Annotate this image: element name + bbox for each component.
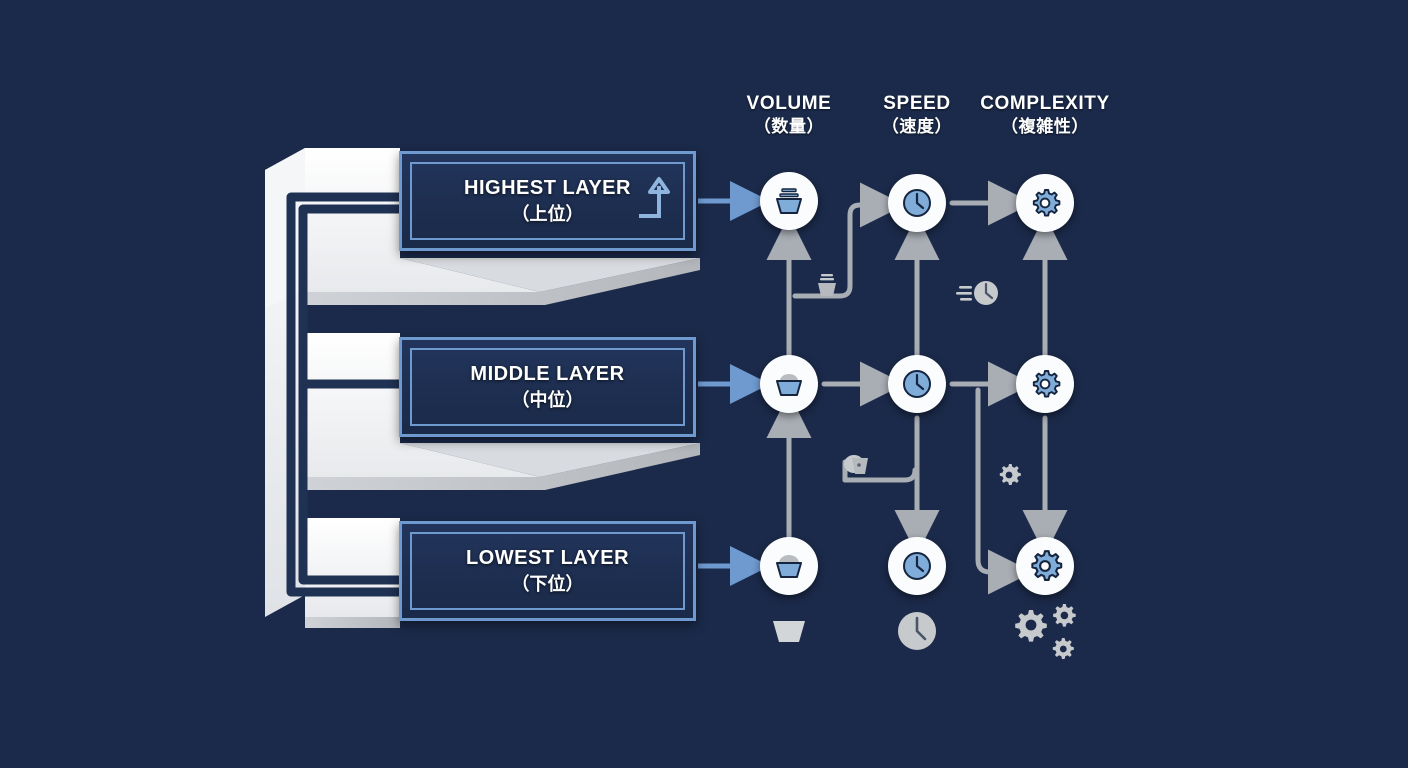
node-middle-volume[interactable]	[760, 355, 818, 413]
clock-icon	[900, 549, 934, 583]
layer-card-frame	[410, 348, 685, 426]
column-header-complexity-jp: （複雑性）	[945, 115, 1145, 139]
layer-card-frame	[410, 532, 685, 610]
gear-icon	[1028, 367, 1062, 401]
node-highest-speed[interactable]	[888, 174, 946, 232]
node-lowest-complexity[interactable]	[1016, 537, 1074, 595]
layer-card-highest[interactable]: HIGHEST LAYER （上位）	[399, 151, 696, 251]
diagram-canvas: VOLUME （数量） SPEED （速度） COMPLEXITY （複雑性） …	[0, 0, 1408, 768]
layer-card-lowest[interactable]: LOWEST LAYER （下位）	[399, 521, 696, 621]
pitcher-icon	[838, 452, 874, 486]
node-middle-speed[interactable]	[888, 355, 946, 413]
arrow-up-icon	[635, 176, 675, 222]
bucket-low-icon	[772, 549, 806, 583]
node-lowest-volume[interactable]	[760, 537, 818, 595]
bucket-half-icon	[772, 367, 806, 401]
decoration-clock-fast	[955, 275, 1003, 311]
gear-small-icon	[995, 461, 1023, 489]
gear-icon	[1027, 548, 1063, 584]
gear-icon	[1028, 186, 1062, 220]
node-highest-volume[interactable]	[760, 172, 818, 230]
column-header-complexity-en: COMPLEXITY	[945, 92, 1145, 115]
clock-fast-icon	[955, 275, 1003, 311]
node-middle-complexity[interactable]	[1016, 355, 1074, 413]
column-header-complexity: COMPLEXITY （複雑性）	[945, 92, 1145, 139]
layer-card-middle[interactable]: MIDDLE LAYER （中位）	[399, 337, 696, 437]
decoration-pitcher	[838, 452, 874, 486]
clock-gray-icon	[894, 608, 940, 654]
gear-cluster-icon	[1007, 602, 1085, 664]
decoration-bucket-empty	[766, 615, 812, 649]
decoration-clock-gray	[894, 608, 940, 654]
clock-icon	[900, 367, 934, 401]
node-lowest-speed[interactable]	[888, 537, 946, 595]
node-highest-complexity[interactable]	[1016, 174, 1074, 232]
decoration-gear-small	[995, 461, 1023, 489]
bucket-small-icon	[812, 272, 842, 300]
layer-to-volume-arrows	[698, 201, 748, 566]
bucket-full-icon	[772, 184, 806, 218]
decoration-bucket-small	[812, 272, 842, 300]
decoration-gear-cluster	[1007, 602, 1085, 664]
clock-icon	[900, 186, 934, 220]
bucket-empty-icon	[766, 615, 812, 649]
